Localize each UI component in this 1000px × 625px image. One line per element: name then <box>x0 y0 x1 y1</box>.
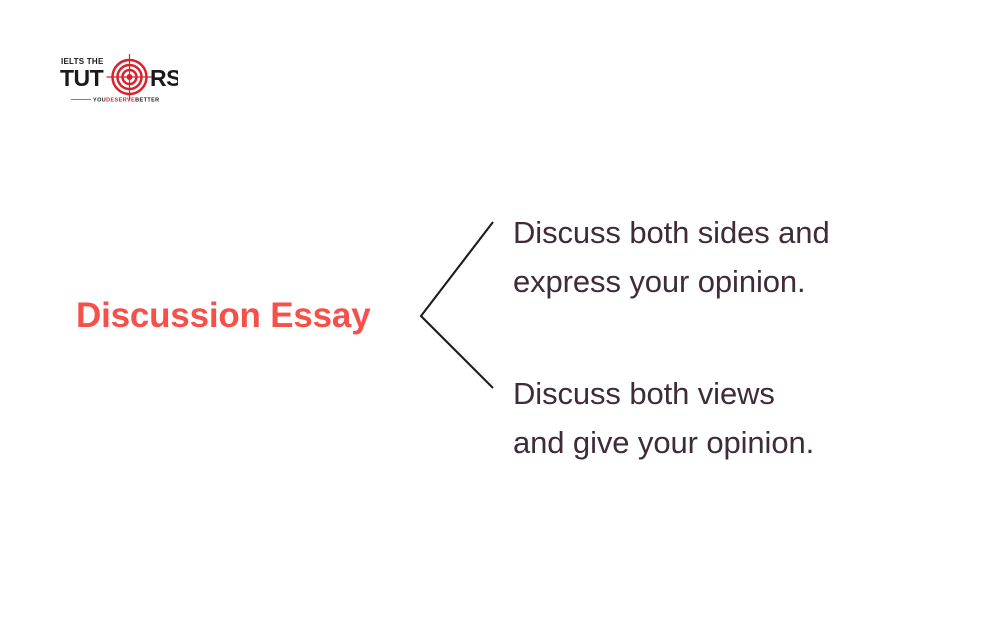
branch-2-line-2: and give your opinion. <box>513 418 814 467</box>
slide-canvas: IELTS THE TUT RS YOUDESERVEBETTER Discus… <box>0 0 1000 625</box>
branch-discuss-both-views: Discuss both views and give your opinion… <box>513 369 814 467</box>
brand-logo-svg: IELTS THE TUT RS YOUDESERVEBETTER <box>60 53 178 105</box>
logo-tagline-you: YOU <box>93 98 106 104</box>
logo-tagline-better: BETTER <box>135 98 159 104</box>
branch-1-line-2: express your opinion. <box>513 257 830 306</box>
logo-wordmark-left: TUT <box>60 65 104 91</box>
logo-tagline-deserve: DESERVE <box>106 98 135 104</box>
bracket-connector-svg <box>414 214 500 396</box>
chevron-path <box>421 222 493 388</box>
logo-tagline: YOUDESERVEBETTER <box>93 98 160 104</box>
logo-wordmark-right: RS <box>150 65 178 91</box>
page-title: Discussion Essay <box>76 295 370 337</box>
bracket-connector <box>414 214 500 396</box>
brand-logo[interactable]: IELTS THE TUT RS YOUDESERVEBETTER <box>60 53 178 105</box>
branch-2-line-1: Discuss both views <box>513 369 814 418</box>
branch-discuss-both-sides: Discuss both sides and express your opin… <box>513 208 830 306</box>
branch-1-line-1: Discuss both sides and <box>513 208 830 257</box>
target-crosshair-icon <box>107 54 153 100</box>
